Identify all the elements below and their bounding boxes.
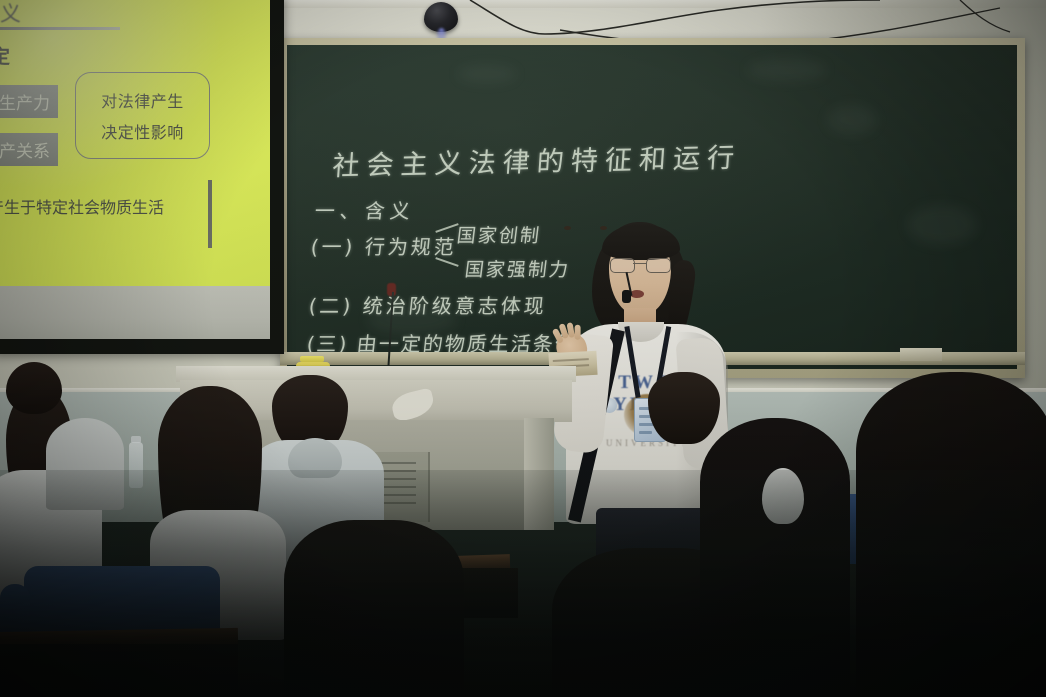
classroom-photo: 社会主义法律的特征和运行 一、含义 (一) 行为规范 国家创制 国家强制力 (二… — [0, 0, 1046, 697]
board-line-1-marker: 一、 — [314, 199, 367, 223]
slide-heading: 律的含义 — [0, 0, 22, 28]
projection-screen-surface: 律的含义 件所决定 生产力 生产关系 对法律产生 决定性影响 成部分，产生于特定… — [0, 0, 270, 339]
board-line-2-marker: (一) — [310, 235, 357, 259]
teacher-eye-left — [564, 226, 571, 230]
slide-chip-2: 生产关系 — [0, 133, 58, 166]
slide-callout-line-1: 对法律产生 — [101, 88, 184, 112]
board-line-3: (二) 统治阶级意志体现 — [307, 290, 548, 319]
slide-accent-bar — [208, 180, 212, 248]
slide-subheading: 件所决定 — [0, 42, 10, 69]
board-brace-icon — [435, 221, 457, 273]
headset-mic-icon — [622, 290, 631, 303]
slide-heading-rule — [0, 27, 120, 30]
board-line-3-marker: (二) — [308, 294, 355, 318]
projection-screen-frame: 律的含义 件所决定 生产力 生产关系 对法律产生 决定性影响 成部分，产生于特定… — [0, 0, 284, 354]
board-title: 社会主义法律的特征和运行 — [331, 136, 742, 184]
slide-content: 律的含义 件所决定 生产力 生产关系 对法律产生 决定性影响 成部分，产生于特定… — [0, 0, 270, 286]
slide-chip-1: 生产力 — [0, 85, 58, 118]
glasses-icon — [610, 258, 670, 271]
teacher-fringe — [602, 224, 680, 260]
board-branch-1: 国家创制 — [455, 221, 542, 248]
board-line-1-text: 含义 — [364, 199, 417, 223]
board-eraser-icon — [900, 348, 942, 361]
slide-body-text: 成部分，产生于特定社会物质生活 — [0, 194, 164, 218]
slide-callout-line-2: 决定性影响 — [101, 119, 184, 143]
teacher-eye-right — [600, 226, 607, 230]
screen-blank-band — [0, 286, 270, 339]
lectern-scuff — [389, 387, 436, 422]
room-shadow — [0, 470, 1046, 697]
board-line-3-text: 统治阶级意志体现 — [362, 294, 549, 318]
board-line-1: 一、含义 — [313, 195, 416, 224]
slide-callout-box: 对法律产生 决定性影响 — [75, 72, 210, 159]
